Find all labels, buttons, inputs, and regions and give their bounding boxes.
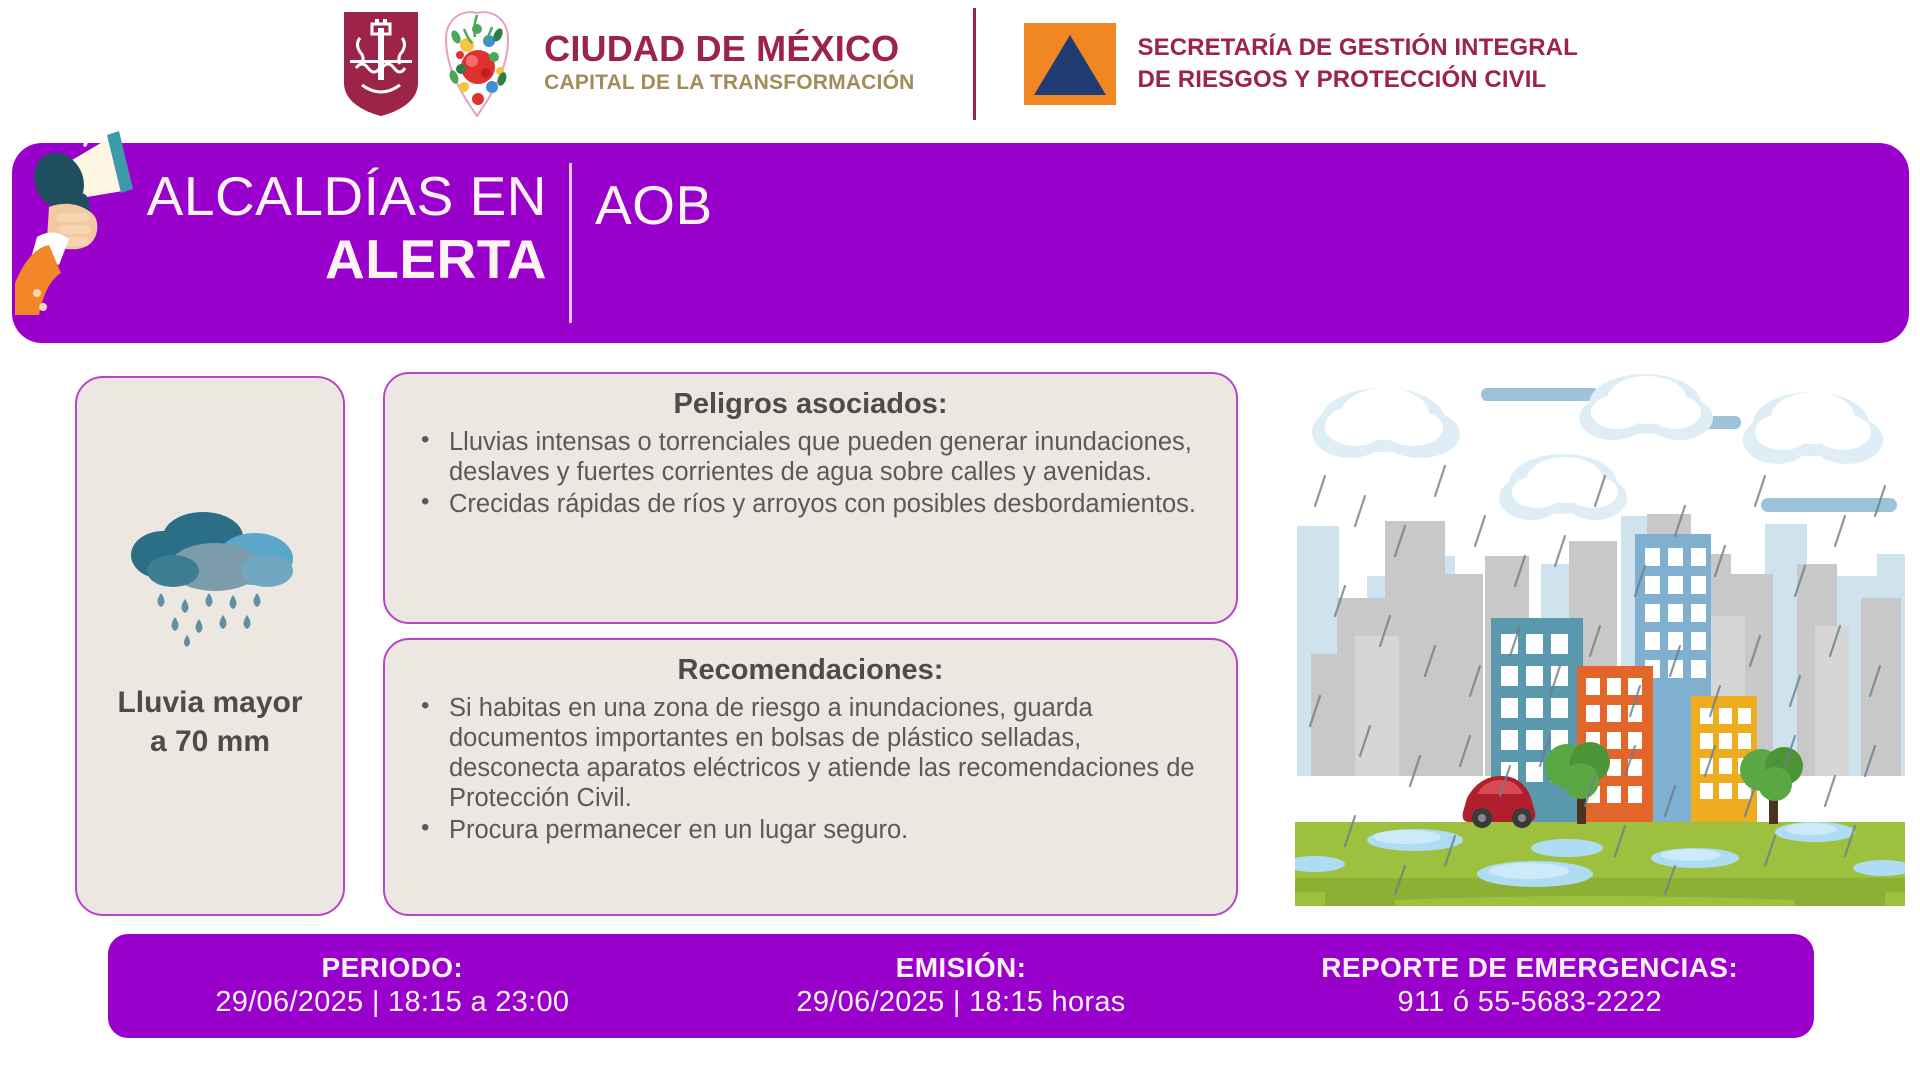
- recommendations-list: Si habitas en una zona de riesgo a inund…: [407, 693, 1214, 845]
- recommendations-box: Recomendaciones: Si habitas en una zona …: [383, 638, 1238, 916]
- footer-emergency: REPORTE DE EMERGENCIAS: 911 ó 55-5683-22…: [1245, 951, 1814, 1021]
- hazard-card: Lluvia mayor a 70 mm: [75, 376, 345, 916]
- hazard-label-line1: Lluvia mayor: [117, 686, 302, 719]
- footer-emergency-value: 911 ó 55-5683-2222: [1245, 985, 1814, 1020]
- rainy-city-flood-illustration: [1295, 366, 1905, 906]
- list-item: Crecidas rápidas de ríos y arroyos con p…: [407, 489, 1214, 519]
- hazard-label: Lluvia mayor a 70 mm: [117, 683, 302, 761]
- list-item: Si habitas en una zona de riesgo a inund…: [407, 693, 1214, 813]
- rain-cloud-icon: [115, 501, 305, 651]
- footer-emission-label: EMISIÓN:: [677, 951, 1246, 985]
- alert-infographic-page: CIUDAD DE MÉXICO CAPITAL DE LA TRANSFORM…: [0, 0, 1920, 1066]
- main-content: Lluvia mayor a 70 mm Peligros asociados:…: [0, 366, 1920, 926]
- cdmx-subtitle: CAPITAL DE LA TRANSFORMACIÓN: [544, 68, 914, 97]
- hazards-box: Peligros asociados: Lluvias intensas o t…: [383, 372, 1238, 624]
- footer-period-value: 29/06/2025 | 18:15 a 23:00: [108, 985, 677, 1020]
- cdmx-heart-icon: [434, 7, 520, 122]
- recommendations-box-title: Recomendaciones:: [407, 654, 1214, 687]
- hazards-box-title: Peligros asociados:: [407, 388, 1214, 421]
- banner-title-line1: ALCALDÍAS EN: [107, 165, 547, 228]
- hazard-label-line2: a 70 mm: [150, 725, 270, 758]
- banner-title-line2: ALERTA: [107, 228, 547, 291]
- hazards-list: Lluvias intensas o torrenciales que pued…: [407, 427, 1214, 519]
- banner-zone-code: AOB: [595, 173, 713, 237]
- agency-name: SECRETARÍA DE GESTIÓN INTEGRAL DE RIESGO…: [1138, 32, 1578, 95]
- agency-name-line1: SECRETARÍA DE GESTIÓN INTEGRAL: [1138, 32, 1578, 64]
- footer-period-label: PERIODO:: [108, 951, 677, 985]
- footer-bar: PERIODO: 29/06/2025 | 18:15 a 23:00 EMIS…: [108, 934, 1814, 1038]
- list-item: Lluvias intensas o torrenciales que pued…: [407, 427, 1214, 487]
- banner-title: ALCALDÍAS EN ALERTA: [107, 165, 547, 292]
- cdmx-wordmark: CIUDAD DE MÉXICO CAPITAL DE LA TRANSFORM…: [544, 30, 914, 97]
- banner-separator: [569, 163, 572, 323]
- list-item: Procura permanecer en un lugar seguro.: [407, 815, 1214, 845]
- footer-emergency-label: REPORTE DE EMERGENCIAS:: [1245, 951, 1814, 985]
- alert-banner: ALCALDÍAS EN ALERTA AOB: [12, 143, 1909, 343]
- agency-logo-block: SECRETARÍA DE GESTIÓN INTEGRAL DE RIESGO…: [1024, 23, 1578, 105]
- header-divider: [973, 8, 976, 120]
- top-header: CIUDAD DE MÉXICO CAPITAL DE LA TRANSFORM…: [0, 0, 1920, 128]
- agency-name-line2: DE RIESGOS Y PROTECCIÓN CIVIL: [1138, 64, 1578, 96]
- civil-protection-triangle-icon: [1024, 23, 1116, 105]
- footer-emission-value: 29/06/2025 | 18:15 horas: [677, 985, 1246, 1020]
- cdmx-title: CIUDAD DE MÉXICO: [544, 30, 914, 68]
- footer-period: PERIODO: 29/06/2025 | 18:15 a 23:00: [108, 951, 677, 1021]
- cdmx-shield-icon: [342, 10, 420, 118]
- footer-emission: EMISIÓN: 29/06/2025 | 18:15 horas: [677, 951, 1246, 1021]
- cdmx-logo-block: CIUDAD DE MÉXICO CAPITAL DE LA TRANSFORM…: [342, 7, 914, 122]
